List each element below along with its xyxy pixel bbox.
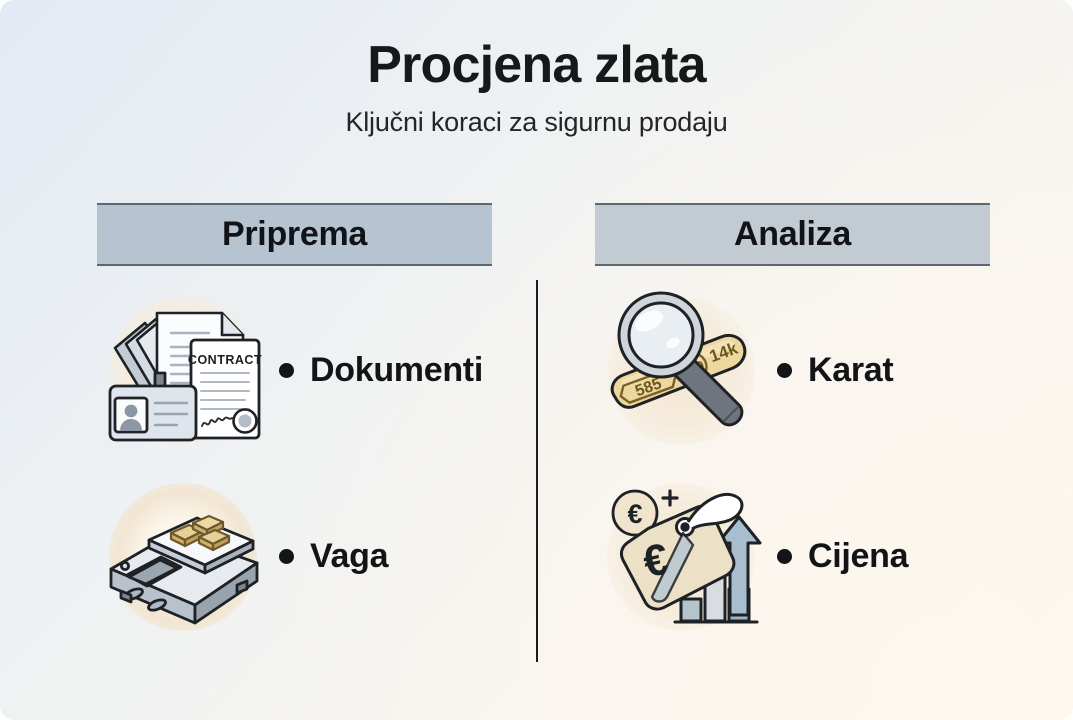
item-label-vaga: Vaga: [279, 537, 388, 576]
item-text: Cijena: [808, 537, 908, 576]
item-label-karat: Karat: [777, 351, 893, 390]
item-label-dokumenti: Dokumenti: [279, 351, 483, 390]
column-analiza: Analiza 585: [595, 203, 990, 266]
contract-label: CONTRACT: [188, 353, 262, 367]
price-icon-wrap: €: [597, 471, 767, 641]
list-item-vaga: Vaga: [99, 471, 569, 641]
documents-icon-wrap: CONTRACT: [99, 285, 269, 455]
bullet-icon: [777, 363, 792, 378]
bullet-icon: [279, 363, 294, 378]
list-item-dokumenti: CONTRACT: [99, 285, 569, 455]
page-subtitle: Ključni koraci za sigurnu prodaju: [0, 107, 1073, 138]
item-label-cijena: Cijena: [777, 537, 908, 576]
list-item-karat: 585 999 14k: [597, 285, 1067, 455]
item-text: Vaga: [310, 537, 388, 576]
infographic-canvas: Procjena zlata Ključni koraci za sigurnu…: [0, 0, 1073, 720]
list-item-cijena: €: [597, 471, 1067, 641]
column-header-label: Priprema: [222, 215, 367, 254]
documents-icon: CONTRACT: [99, 285, 269, 455]
column-header-analiza: Analiza: [595, 203, 990, 266]
column-priprema: Priprema: [97, 203, 492, 266]
price-tag-chart-icon: €: [597, 471, 767, 641]
bullet-icon: [777, 549, 792, 564]
header-block: Procjena zlata Ključni koraci za sigurnu…: [0, 38, 1073, 138]
column-header-priprema: Priprema: [97, 203, 492, 266]
page-title: Procjena zlata: [0, 38, 1073, 93]
euro-coin-symbol: €: [627, 499, 642, 529]
magnifier-hallmark-icon: 585 999 14k: [597, 285, 767, 455]
columns-container: Priprema: [0, 203, 1073, 703]
scale-icon-wrap: [99, 471, 269, 641]
bullet-icon: [279, 549, 294, 564]
scale-icon: [99, 471, 269, 641]
magnifier-icon-wrap: 585 999 14k: [597, 285, 767, 455]
item-text: Karat: [808, 351, 893, 390]
column-header-label: Analiza: [734, 215, 851, 254]
item-text: Dokumenti: [310, 351, 483, 390]
plus-icon: [663, 491, 677, 505]
